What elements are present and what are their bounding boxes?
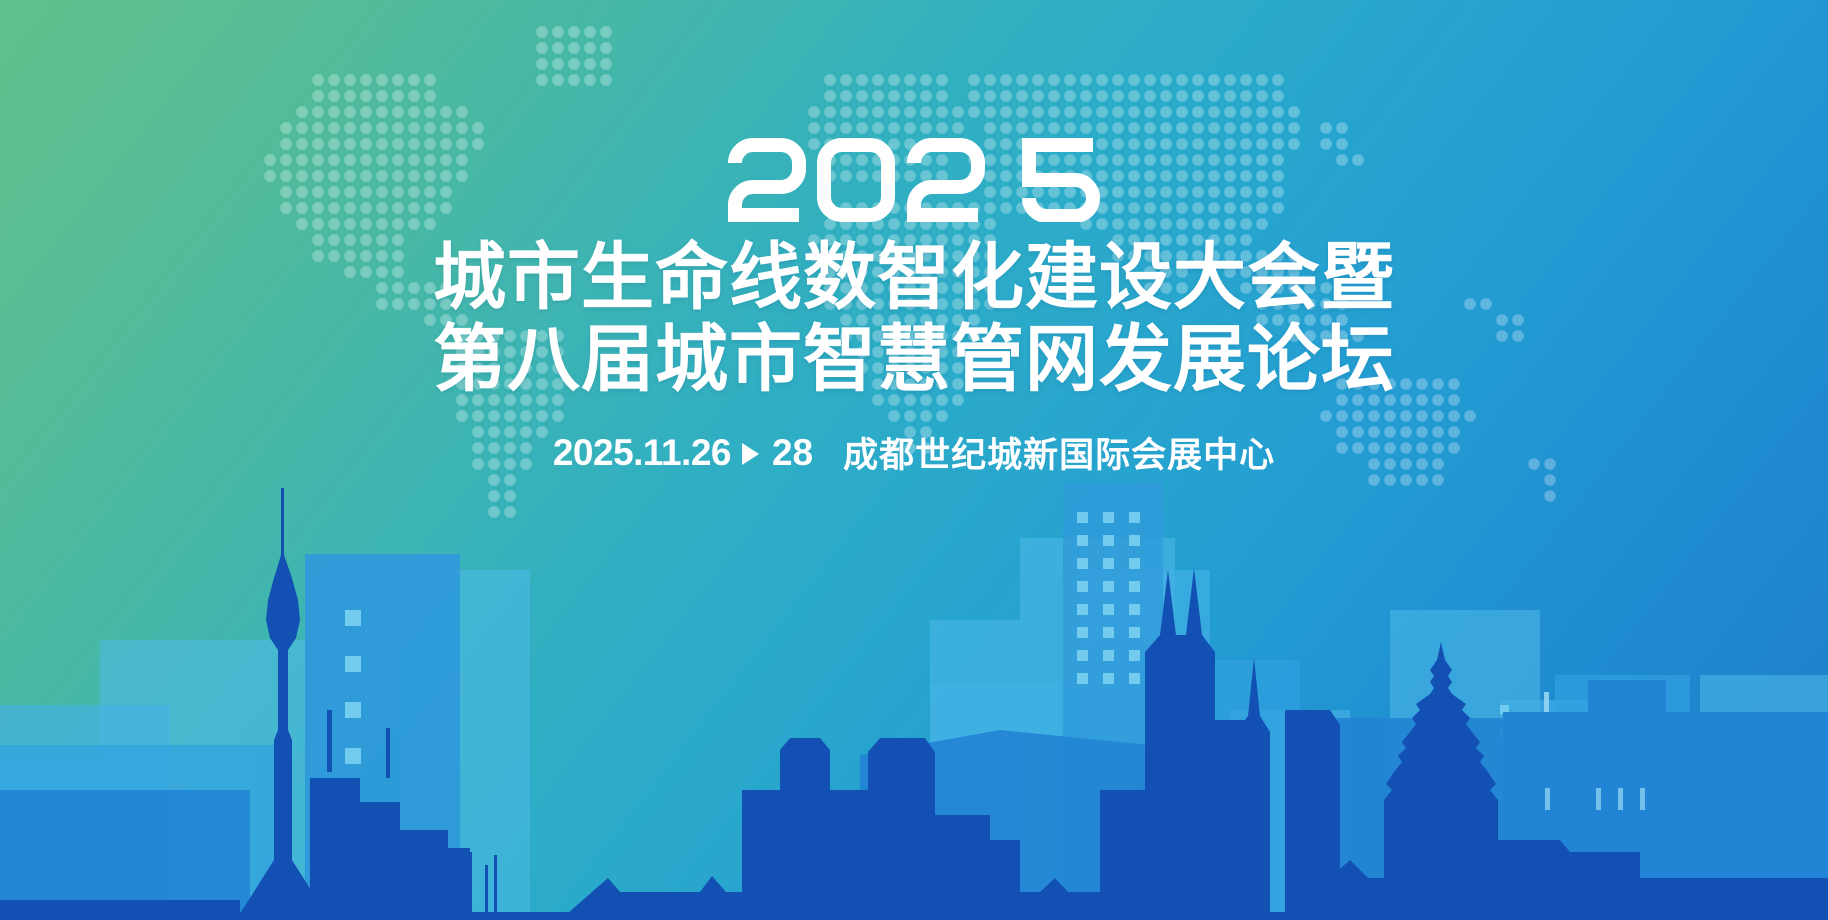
conference-title-line-2: 第八届城市智慧管网发展论坛 — [0, 320, 1828, 400]
skyline-building-grid-tower — [1063, 482, 1163, 920]
skyline-building-left-windows — [305, 554, 460, 920]
event-start-date: 2025.11.26 — [553, 432, 731, 474]
skyline-layer-near — [0, 718, 1700, 920]
building-slit-marks — [1545, 788, 1645, 810]
arrow-right-icon — [742, 443, 759, 465]
city-skyline-illustration — [0, 460, 1828, 920]
skyline-building-right-slits — [1503, 680, 1828, 920]
year-logo-2025 — [0, 138, 1828, 222]
window-marks-right — [1500, 705, 1509, 737]
window-grid — [1077, 512, 1140, 684]
skyline-layer-far2 — [0, 570, 1735, 920]
window-column-left — [345, 610, 361, 764]
conference-title-line-1: 城市生命线数智化建设大会暨 — [0, 238, 1828, 318]
event-end-date: 28 — [772, 432, 813, 474]
window-marks-far-right — [1544, 692, 1645, 714]
skyline-layer-mid — [0, 555, 1690, 920]
event-venue: 成都世纪城新国际会展中心 — [843, 427, 1275, 478]
date-venue-row: 2025.11.26 28 成都世纪城新国际会展中心 — [0, 427, 1828, 478]
skyline-front-silhouette — [0, 488, 1828, 920]
world-map-dot-pattern — [150, 8, 1690, 568]
skyline-layer-far — [0, 538, 1828, 920]
banner-content: 城市生命线数智化建设大会暨 第八届城市智慧管网发展论坛 2025.11.26 2… — [0, 0, 1828, 478]
conference-banner: 城市生命线数智化建设大会暨 第八届城市智慧管网发展论坛 2025.11.26 2… — [0, 0, 1828, 920]
